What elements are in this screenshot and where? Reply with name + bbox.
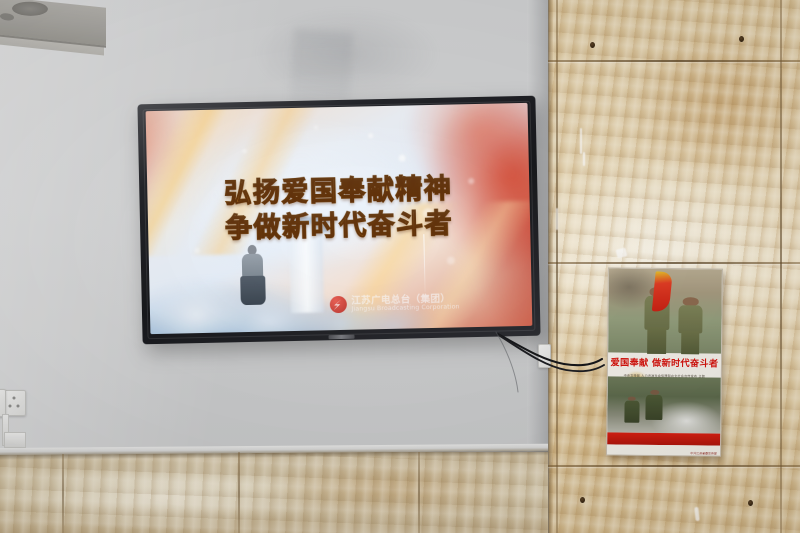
- scene-root: 弘扬爱国奉献精神 争做新时代奋斗者 江苏广电总台（集团） Jiangsu Bro…: [0, 0, 800, 533]
- outlet-socket: [8, 397, 21, 410]
- tv-cable-bundle: [490, 330, 610, 400]
- power-outlet-secondary[interactable]: [0, 389, 6, 417]
- screen-bokeh: [368, 133, 373, 138]
- cable-conduit-box: [4, 432, 26, 448]
- poster-footer: 中共江苏省委宣传部: [607, 444, 720, 455]
- poster-bottom-photo: [607, 376, 721, 433]
- poster-top-photo: [608, 268, 722, 353]
- wainscot-seam: [238, 452, 240, 533]
- marble-scratch: [580, 128, 582, 154]
- soffit-debris: [11, 2, 48, 16]
- screen-soldier-figure: [234, 245, 270, 306]
- soffit-debris-small: [0, 13, 14, 21]
- marble-seam-vertical: [780, 0, 782, 533]
- wall-anchor-bolt: [739, 36, 744, 42]
- marble-scratch: [583, 152, 585, 166]
- wainscot-seam: [418, 452, 420, 533]
- marble-wainscot: [0, 452, 548, 533]
- tv-brand-logo: [329, 335, 355, 340]
- outlet-pin: [8, 404, 11, 407]
- marble-seam-horizontal: [548, 262, 800, 264]
- figure-body: [624, 400, 639, 422]
- screen-headline: 弘扬爱国奉献精神 争做新时代奋斗者: [147, 171, 530, 248]
- outlet-pin: [12, 397, 15, 400]
- figure-body: [678, 305, 702, 334]
- poster-figure-soldier-b: [645, 390, 665, 420]
- wall-poster[interactable]: 爱国奉献 做新时代奋斗者 中央宣传部 人力资源社会保障部向全社会宣传发布 主题 …: [606, 267, 723, 456]
- marble-scratch: [556, 208, 558, 230]
- wall-anchor-bolt: [590, 42, 595, 48]
- marble-seam-horizontal: [548, 465, 800, 467]
- wainscot-seam: [62, 454, 64, 533]
- tv-screen[interactable]: 弘扬爱国奉献精神 争做新时代奋斗者 江苏广电总台（集团） Jiangsu Bro…: [146, 103, 533, 334]
- broadcaster-logo-icon: [329, 296, 346, 313]
- poster-credit: 中共江苏省委宣传部: [690, 451, 717, 455]
- television[interactable]: 弘扬爱国奉献精神 争做新时代奋斗者 江苏广电总台（集团） Jiangsu Bro…: [137, 96, 540, 345]
- figure-legs: [647, 326, 666, 354]
- outlet-pin: [17, 404, 20, 407]
- broadcaster-logo: 江苏广电总台（集团） Jiangsu Broadcasting Corporat…: [329, 294, 460, 314]
- screen-bokeh: [242, 149, 246, 153]
- marble-seam-vertical: [556, 0, 558, 533]
- figure-body: [646, 394, 663, 420]
- poster-figure-soldier-a: [623, 397, 640, 423]
- tv-bezel: 弘扬爱国奉献精神 争做新时代奋斗者 江苏广电总台（集团） Jiangsu Bro…: [137, 96, 540, 345]
- poster-figure-officer: [676, 298, 705, 354]
- figure-legs: [681, 331, 699, 354]
- marble-seam-horizontal: [548, 60, 800, 62]
- poster-title: 爱国奉献 做新时代奋斗者: [608, 355, 721, 370]
- screen-bokeh: [447, 256, 455, 264]
- screen-bokeh: [314, 125, 318, 129]
- broadcaster-logo-text: 江苏广电总台（集团） Jiangsu Broadcasting Corporat…: [351, 294, 460, 313]
- figure-legs: [241, 276, 266, 305]
- wall-anchor-bolt: [748, 500, 753, 506]
- wall-anchor-bolt: [580, 497, 585, 503]
